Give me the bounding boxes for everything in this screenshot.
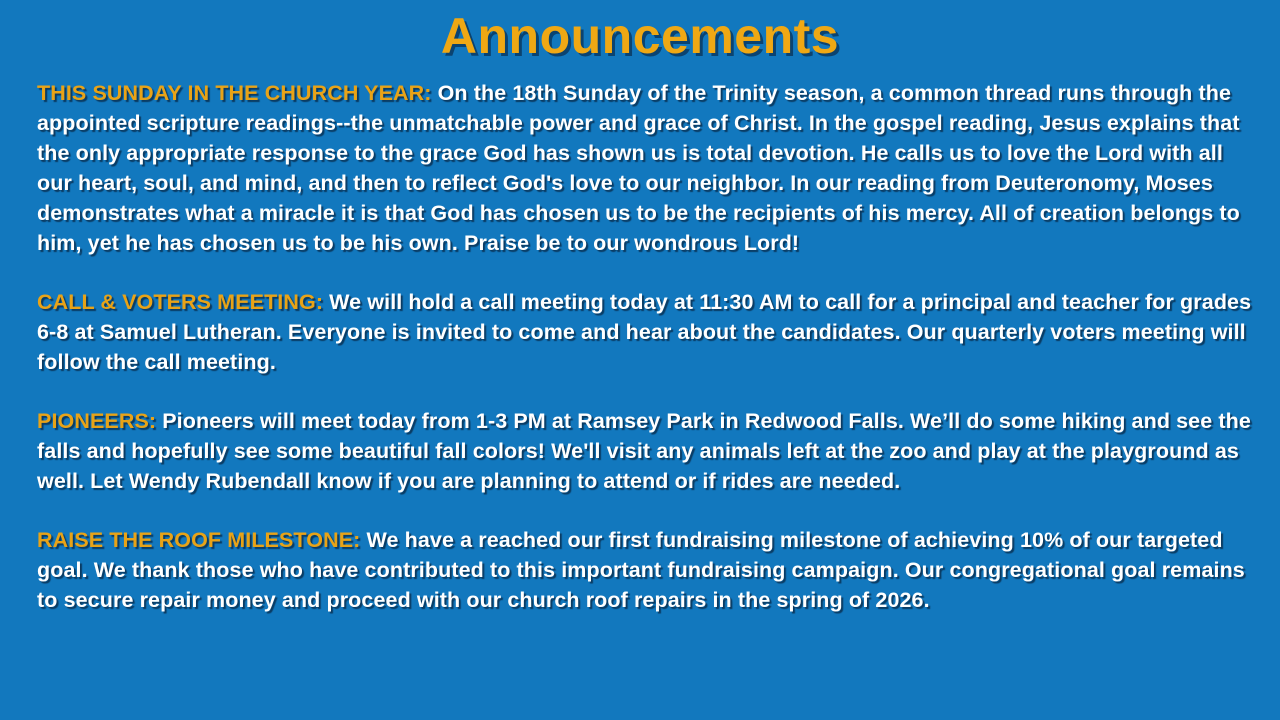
announcement-label: CALL & VOTERS MEETING: bbox=[37, 290, 323, 314]
announcements-slide: Announcements THIS SUNDAY IN THE CHURCH … bbox=[0, 0, 1280, 720]
announcement-item-pioneers: PIONEERS: Pioneers will meet today from … bbox=[37, 406, 1253, 496]
announcement-label: THIS SUNDAY IN THE CHURCH YEAR: bbox=[37, 81, 432, 105]
announcement-label: RAISE THE ROOF MILESTONE: bbox=[37, 528, 360, 552]
announcement-item-call-and-voters-meeting: CALL & VOTERS MEETING: We will hold a ca… bbox=[37, 287, 1253, 377]
announcement-body: On the 18th Sunday of the Trinity season… bbox=[37, 81, 1240, 255]
announcement-item-raise-the-roof-milestone: RAISE THE ROOF MILESTONE: We have a reac… bbox=[37, 525, 1253, 615]
announcement-body: Pioneers will meet today from 1-3 PM at … bbox=[37, 409, 1251, 493]
announcement-list: THIS SUNDAY IN THE CHURCH YEAR: On the 1… bbox=[37, 78, 1253, 615]
page-title: Announcements bbox=[0, 6, 1280, 66]
announcement-label: PIONEERS: bbox=[37, 409, 156, 433]
announcement-item-this-sunday-in-the-church-year: THIS SUNDAY IN THE CHURCH YEAR: On the 1… bbox=[37, 78, 1253, 258]
